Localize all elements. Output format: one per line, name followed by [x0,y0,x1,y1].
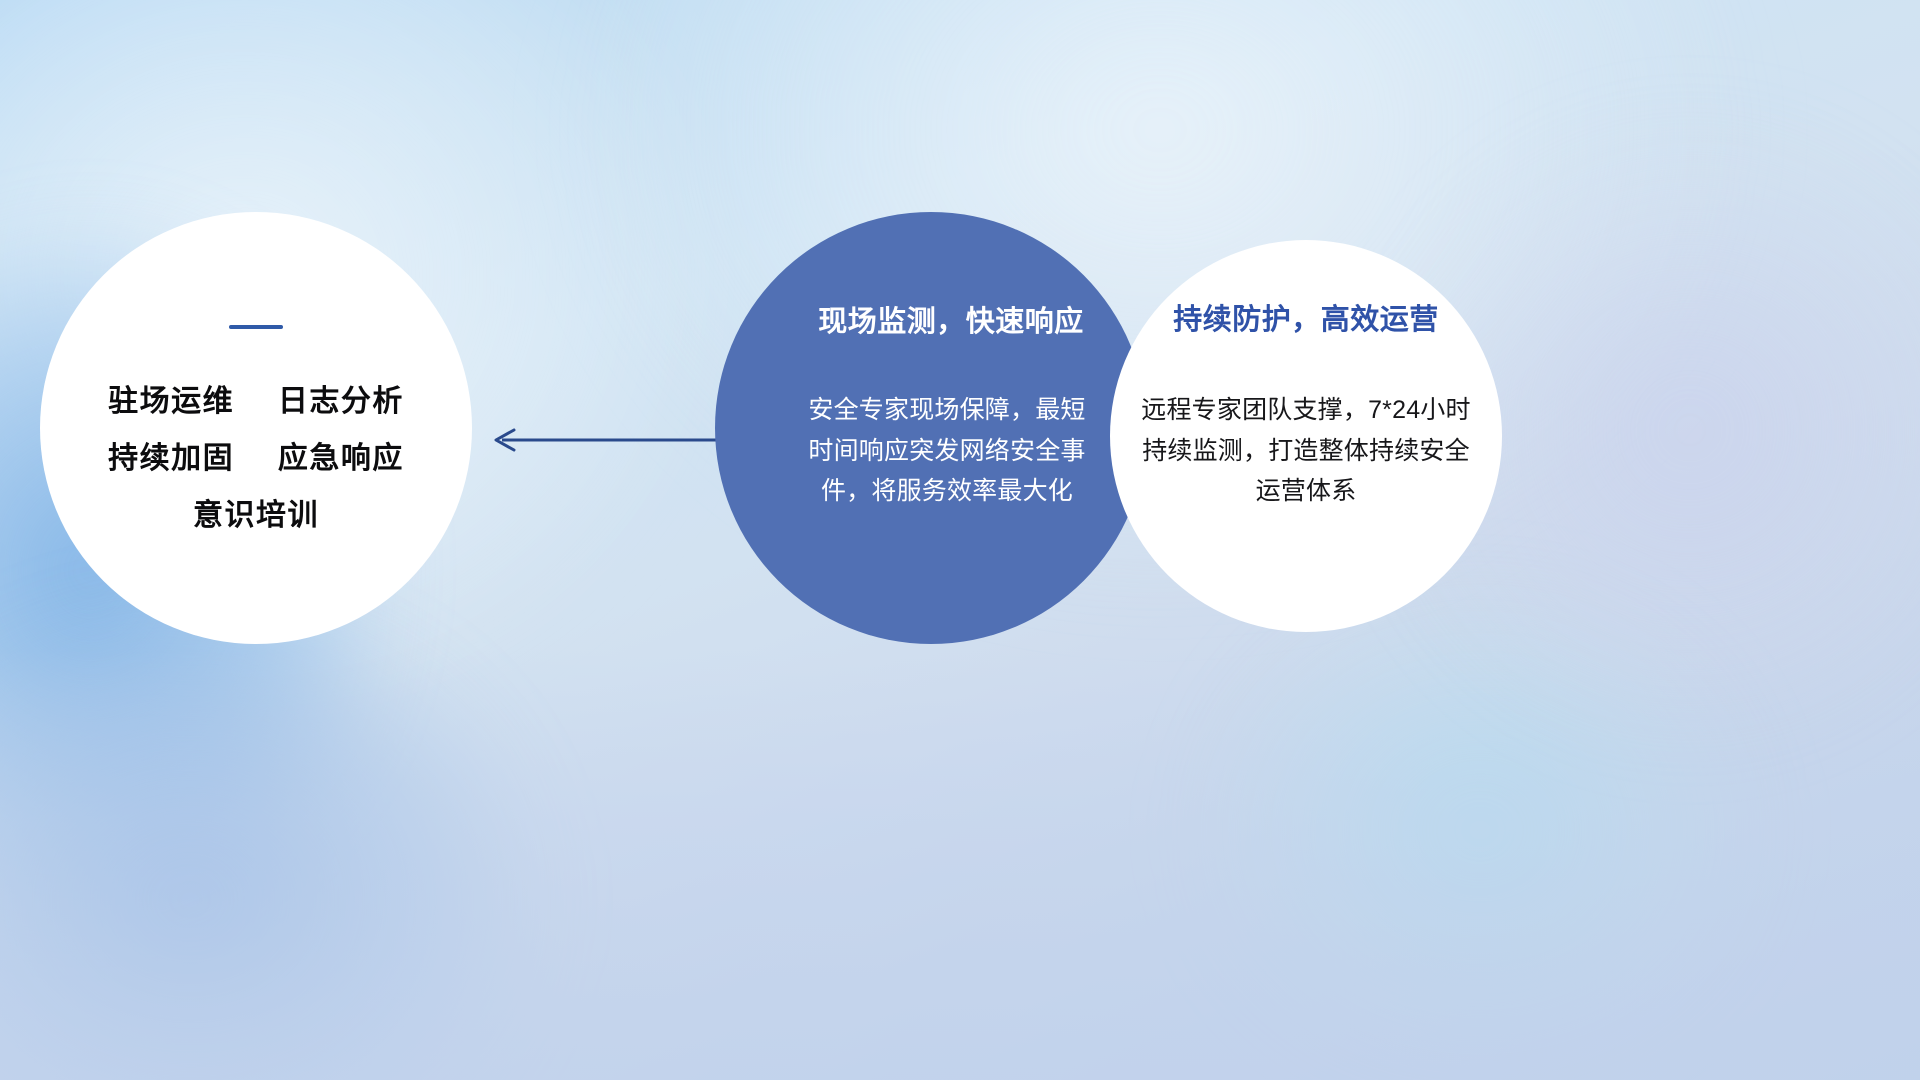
capability-list: 驻场运维 日志分析 持续加固 应急响应 意识培训 [108,385,404,532]
capability-label: 应急响应 [278,442,404,475]
list-item: 意识培训 [108,499,404,532]
capability-label: 驻场运维 [108,385,234,418]
right-circle-title: 持续防护，高效运营 [1173,296,1439,338]
capability-label: 日志分析 [278,385,404,418]
list-item: 驻场运维 日志分析 [108,385,404,418]
capability-circle-right: 持续防护，高效运营 远程专家团队支撑，7*24小时持续监测，打造整体持续安全运营… [1110,240,1502,632]
arrow-left-icon [480,418,720,462]
capability-circle-middle: 现场监测，快速响应 安全专家现场保障，最短时间响应突发网络安全事件，将服务效率最… [715,212,1147,644]
dash-divider-icon [229,325,283,329]
background-bottom-wash [0,650,1920,1080]
slide-canvas: 驻场运维 日志分析 持续加固 应急响应 意识培训 现场监测，快速响应 安全专家现… [0,0,1920,1080]
middle-circle-title: 现场监测，快速响应 [818,298,1084,340]
flow-arrow [480,418,720,462]
right-circle-body: 远程专家团队支撑，7*24小时持续监测，打造整体持续安全运营体系 [1131,390,1481,512]
middle-circle-body: 安全专家现场保障，最短时间响应突发网络安全事件，将服务效率最大化 [797,390,1097,512]
list-item: 持续加固 应急响应 [108,442,404,475]
capability-label: 意识培训 [193,499,319,532]
capability-circle-left: 驻场运维 日志分析 持续加固 应急响应 意识培训 [40,212,472,644]
capability-label: 持续加固 [108,442,234,475]
